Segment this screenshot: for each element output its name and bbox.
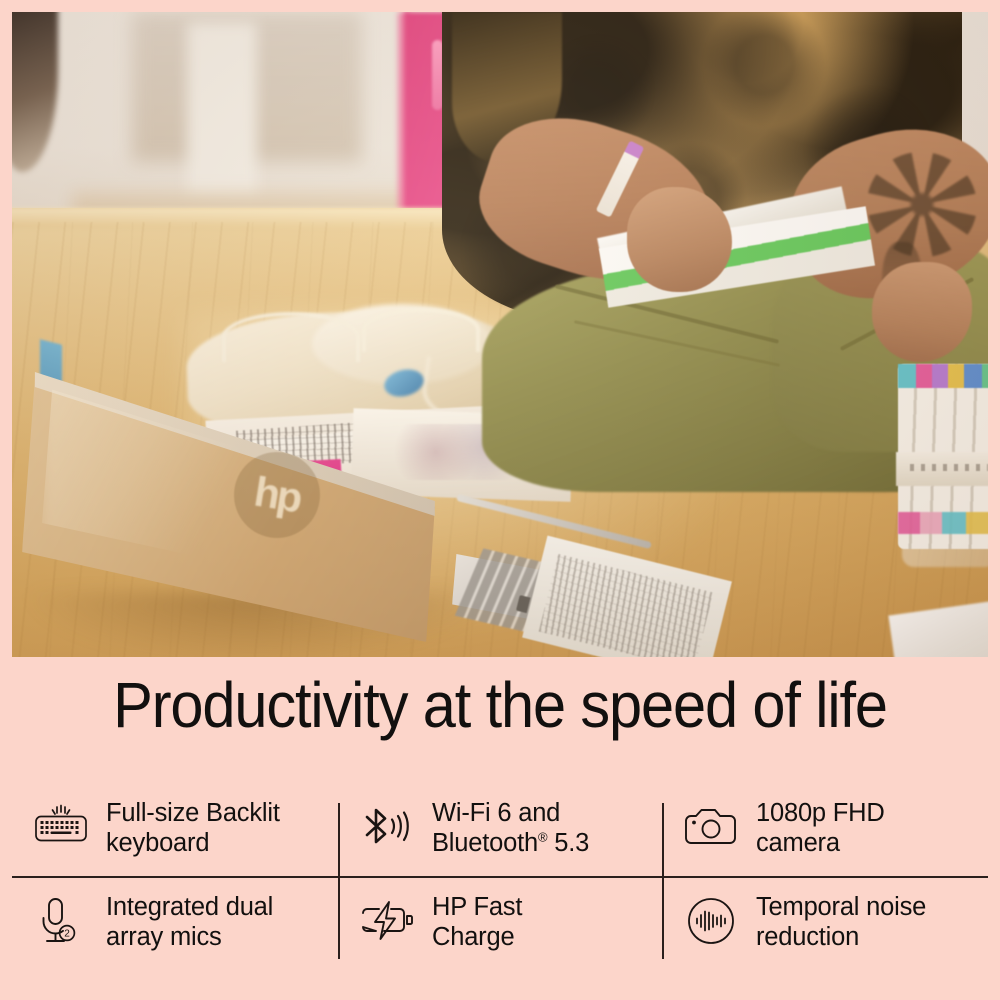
marker-caps: [898, 512, 988, 534]
svg-text:2: 2: [64, 929, 70, 940]
feature-item-noise-reduction: Temporal noise reduction: [680, 890, 926, 952]
feature-line-1: Temporal noise: [756, 893, 926, 923]
feature-line-2: reduction: [756, 923, 926, 953]
microphone-dual-icon: 2: [30, 890, 92, 952]
feature-label-camera: 1080p FHD camera: [756, 796, 885, 858]
marker-caps: [898, 364, 988, 388]
feature-grid: Full-size Backlit keyboard Wi-Fi 6 and B…: [12, 786, 988, 986]
feature-label-wireless: Wi-Fi 6 and Bluetooth® 5.3: [432, 796, 589, 858]
waveform-circle-icon: [680, 890, 742, 952]
feature-line-1: Integrated dual: [106, 893, 273, 923]
camera-icon: [680, 796, 742, 858]
feature-item-fast-charge: HP Fast Charge: [356, 890, 522, 952]
person-left-hand: [627, 187, 732, 292]
hp-logo-text: hp: [251, 471, 302, 520]
hero-photo: hp: [12, 12, 988, 657]
feature-label-microphones: Integrated dual array mics: [106, 890, 273, 952]
bluetooth-word: Bluetooth: [432, 829, 538, 857]
registered-mark: ®: [538, 829, 547, 844]
feature-line-1: Full-size Backlit: [106, 799, 280, 829]
feature-line-2: keyboard: [106, 829, 280, 859]
feature-line-1: 1080p FHD: [756, 799, 885, 829]
feature-label-noise-reduction: Temporal noise reduction: [756, 890, 926, 952]
grid-vertical-divider: [338, 803, 340, 959]
feature-line-2: camera: [756, 829, 885, 859]
feature-line-2: Charge: [432, 923, 522, 953]
product-feature-card: hp Productivity at the speed of life: [0, 0, 1000, 1000]
cup-label-text: [910, 464, 988, 471]
feature-line-2: array mics: [106, 923, 273, 953]
feature-line-2: Bluetooth® 5.3: [432, 829, 589, 859]
feature-line-1: HP Fast: [432, 893, 522, 923]
battery-bolt-icon: [356, 890, 418, 952]
tote-strap: [362, 308, 480, 352]
grid-horizontal-divider: [12, 876, 988, 878]
feature-label-fast-charge: HP Fast Charge: [432, 890, 522, 952]
feature-line-1: Wi-Fi 6 and: [432, 799, 589, 829]
feature-item-wireless: Wi-Fi 6 and Bluetooth® 5.3: [356, 796, 589, 858]
bluetooth-wifi-icon: [356, 796, 418, 858]
doorway: [187, 22, 257, 202]
feature-item-keyboard: Full-size Backlit keyboard: [30, 796, 280, 858]
feature-item-microphones: 2 Integrated dual array mics: [30, 890, 273, 952]
page-title: Productivity at the speed of life: [35, 668, 965, 742]
bluetooth-version: 5.3: [547, 829, 589, 857]
feature-item-camera: 1080p FHD camera: [680, 796, 885, 858]
keyboard-backlit-icon: [30, 796, 92, 858]
grid-vertical-divider: [662, 803, 664, 959]
tote-strap: [222, 312, 360, 362]
feature-label-keyboard: Full-size Backlit keyboard: [106, 796, 280, 858]
